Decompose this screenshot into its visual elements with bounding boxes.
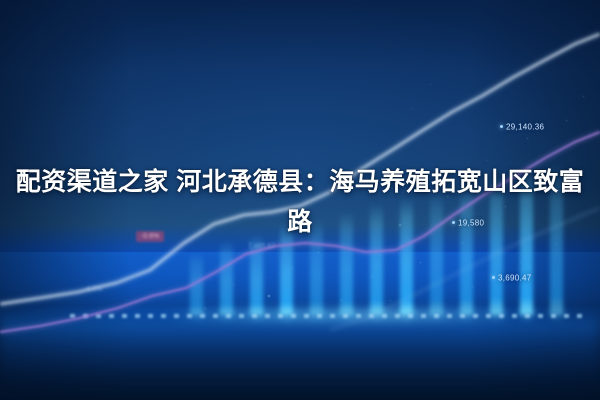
blurred-chart-label: 7,485.67 xyxy=(248,243,275,250)
particle-speck xyxy=(390,300,391,301)
particle-speck xyxy=(520,262,521,263)
headline-text: 配资渠道之家 河北承德县：海马养殖拓宽山区致富路 xyxy=(0,162,600,242)
chart-data-label: 3,690.47 xyxy=(492,273,532,282)
data-point-marker-icon xyxy=(492,276,495,279)
data-point-marker-icon xyxy=(500,125,503,128)
data-label-text: 3,690.47 xyxy=(498,273,532,282)
data-label-text: 29,140.36 xyxy=(506,122,544,131)
blurred-chart-label: -4.0% xyxy=(84,286,102,293)
chart-data-label: 29,140.36 xyxy=(500,122,544,131)
image-canvas: 29,140.3619,5803,690.47 7,485.67-4.0%-0.… xyxy=(0,0,600,400)
particle-speck xyxy=(268,295,270,297)
